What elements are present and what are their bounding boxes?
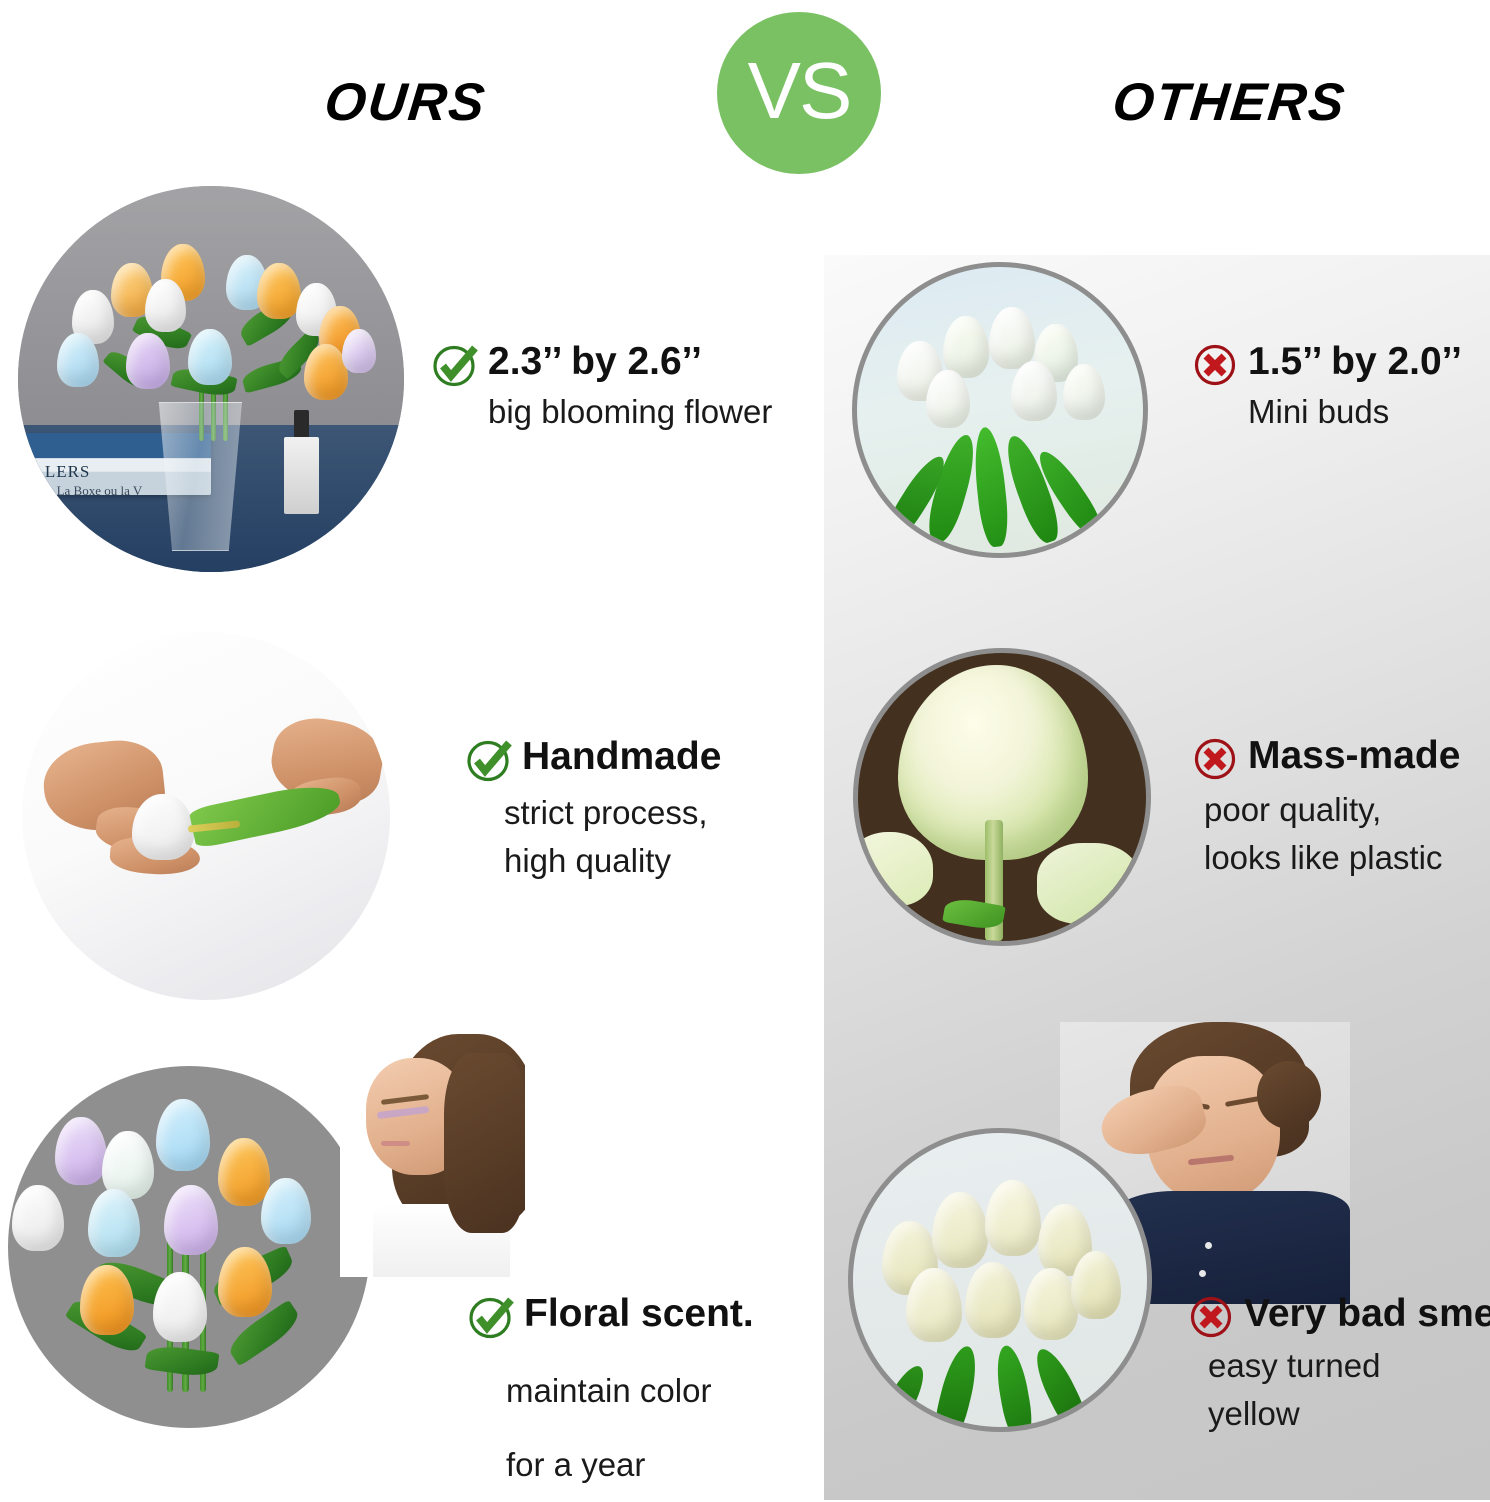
photo-artwork xyxy=(857,267,1143,553)
others-feature-2-headline: Mass-made xyxy=(1192,734,1490,782)
ours-feature-2-line-1: strict process, xyxy=(504,789,866,837)
x-circle-icon xyxy=(1192,736,1238,782)
others-image-3-yellowed-tulips xyxy=(848,1128,1152,1432)
comparison-header: OURS VS OTHERS xyxy=(0,0,1490,185)
ours-inset-woman-smelling-flowers xyxy=(340,1034,525,1277)
ours-column-title: OURS xyxy=(322,72,490,133)
others-feature-1: 1.5’’ by 2.0’’ Mini buds xyxy=(1192,340,1490,436)
ours-feature-1: 2.3’’ by 2.6’’ big blooming flower xyxy=(432,340,832,436)
x-circle-icon xyxy=(1188,1294,1234,1340)
others-feature-1-headline: 1.5’’ by 2.0’’ xyxy=(1192,340,1490,388)
book-spine-subtitle: La Boxe ou la V xyxy=(57,483,143,499)
ours-feature-3-line-2: for a year xyxy=(506,1428,868,1502)
others-feature-3-line-1: easy turned xyxy=(1208,1342,1490,1390)
others-image-1-mini-tulip-buds xyxy=(852,262,1148,558)
ours-feature-2-title: Handmade xyxy=(522,735,721,779)
book-spine-title: LLERS xyxy=(33,462,90,482)
others-feature-1-line-1: Mini buds xyxy=(1248,388,1490,436)
others-feature-3-line-2: yellow xyxy=(1208,1390,1490,1438)
x-circle-icon xyxy=(1192,342,1238,388)
check-circle-icon xyxy=(468,1294,514,1340)
others-feature-1-title: 1.5’’ by 2.0’’ xyxy=(1248,340,1462,384)
photo-artwork xyxy=(853,1133,1147,1427)
photo-artwork: LLERS La Boxe ou la V xyxy=(18,186,404,572)
ours-feature-3-headline: Floral scent. xyxy=(468,1292,868,1340)
photo-artwork xyxy=(858,653,1146,941)
check-circle-icon xyxy=(432,342,478,388)
ours-feature-3: Floral scent. maintain color for a year xyxy=(468,1292,868,1502)
ours-feature-3-line-1: maintain color xyxy=(506,1354,868,1428)
ours-feature-1-line-1: big blooming flower xyxy=(488,388,832,436)
others-feature-2: Mass-made poor quality, looks like plast… xyxy=(1192,734,1490,882)
vs-badge: VS xyxy=(717,12,881,174)
others-column-title: OTHERS xyxy=(1110,72,1349,133)
ours-feature-1-headline: 2.3’’ by 2.6’’ xyxy=(432,340,832,388)
others-feature-2-line-2: looks like plastic xyxy=(1204,834,1490,882)
others-feature-3: Very bad smell easy turned yellow xyxy=(1188,1292,1490,1438)
photo-artwork xyxy=(22,632,390,1000)
ours-feature-3-title: Floral scent. xyxy=(524,1292,754,1336)
ours-image-2-hands-assembling-tulip xyxy=(22,632,390,1000)
ours-image-1-tulip-bouquet-in-vase: LLERS La Boxe ou la V xyxy=(18,186,404,572)
check-circle-icon xyxy=(466,737,512,783)
others-feature-3-headline: Very bad smell xyxy=(1188,1292,1490,1340)
others-feature-2-line-1: poor quality, xyxy=(1204,786,1490,834)
others-image-2-tulip-petal-closeup xyxy=(853,648,1151,946)
photo-artwork xyxy=(8,1066,370,1428)
vs-badge-label: VS xyxy=(748,51,851,131)
ours-image-3-colorful-tulips xyxy=(8,1066,370,1428)
ours-feature-2-headline: Handmade xyxy=(466,735,866,783)
others-feature-2-title: Mass-made xyxy=(1248,734,1460,778)
ours-feature-2: Handmade strict process, high quality xyxy=(466,735,866,885)
ours-feature-1-title: 2.3’’ by 2.6’’ xyxy=(488,340,702,384)
others-feature-3-title: Very bad smell xyxy=(1244,1292,1490,1336)
ours-feature-2-line-2: high quality xyxy=(504,837,866,885)
